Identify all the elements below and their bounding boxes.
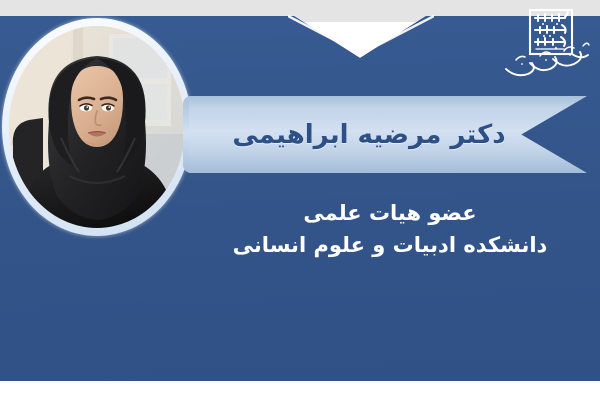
portrait-image-clip [9, 26, 185, 228]
shahid-beheshti-university-logo [500, 6, 592, 82]
subtitle-block: عضو هیات علمی دانشکده ادبیات و علوم انسا… [190, 198, 590, 261]
bottom-white-band [0, 381, 600, 400]
portrait [2, 18, 192, 236]
subtitle-faculty: دانشکده ادبیات و علوم انسانی [190, 230, 590, 260]
portrait-image [9, 26, 185, 228]
subtitle-role: عضو هیات علمی [190, 198, 590, 228]
person-name: دکتر مرضیه ابراهیمی [189, 96, 549, 173]
poster-canvas: دکتر مرضیه ابراهیمی عضو هیات علمی دانشکد… [0, 0, 600, 400]
